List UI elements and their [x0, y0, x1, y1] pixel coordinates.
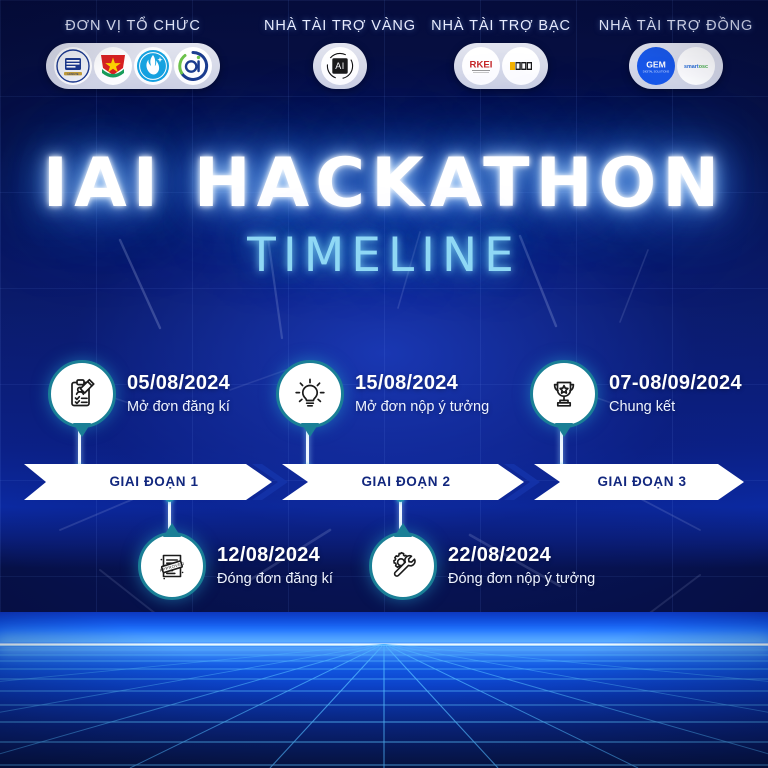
milestone-top-1[interactable]: 05/08/2024 Mở đơn đăng kí: [48, 360, 230, 428]
milestone-top-3[interactable]: 07-08/09/2024 Chung kết: [530, 360, 742, 428]
poster-canvas: ĐƠN VỊ TỔ CHỨC HCMUTE NHÀ TÀI TRỢ VÀNG: [0, 0, 768, 768]
svg-text:smartosc: smartosc: [684, 64, 708, 70]
milestone-marker: [530, 360, 598, 428]
sponsor-logo-pill: RKEI: [454, 43, 548, 89]
sponsor-group-bronze: NHÀ TÀI TRỢ ĐỒNG GEMDIGITAL SOLUTIONS sm…: [586, 18, 766, 89]
sponsor-group-title: NHÀ TÀI TRỢ ĐỒNG: [599, 18, 753, 34]
milestone-marker: [48, 360, 116, 428]
milestone-bottom-1[interactable]: APPROVED 12/08/2024 Đóng đơn đăng kí: [138, 532, 333, 600]
milestone-desc: Mở đơn nộp ý tưởng: [355, 398, 489, 417]
milestone-text: 12/08/2024 Đóng đơn đăng kí: [217, 544, 333, 589]
page-title: IAI HACKATHON: [0, 144, 768, 223]
milestone-date: 22/08/2024: [448, 544, 595, 567]
milestone-marker: [276, 360, 344, 428]
milestone-text: 22/08/2024 Đóng đơn nộp ý tưởng: [448, 544, 595, 589]
sponsor-strip: ĐƠN VỊ TỔ CHỨC HCMUTE NHÀ TÀI TRỢ VÀNG: [0, 18, 768, 89]
sponsor-logo-pill: AI: [313, 43, 367, 89]
rkei-logo: RKEI: [462, 47, 500, 85]
lightbulb-idea-icon: [293, 377, 327, 411]
milestone-desc: Đóng đơn nộp ý tưởng: [448, 570, 595, 589]
sponsor-group-gold: NHÀ TÀI TRỢ VÀNG AI: [264, 18, 416, 89]
ai-club-logo: [174, 47, 212, 85]
milestone-text: 05/08/2024 Mở đơn đăng kí: [127, 372, 230, 417]
sponsor-group-silver: NHÀ TÀI TRỢ BẠC RKEI: [416, 18, 586, 89]
sponsor-logo-pill: GEMDIGITAL SOLUTIONS smartosc: [629, 43, 723, 89]
sponsor-group-title: NHÀ TÀI TRỢ VÀNG: [264, 18, 416, 34]
svg-text:AI: AI: [335, 61, 345, 71]
trophy-icon: [547, 377, 581, 411]
stage-label-3: GIAI ĐOẠN 3: [540, 464, 744, 500]
approved-document-icon: APPROVED: [155, 549, 189, 583]
milestone-date: 15/08/2024: [355, 372, 489, 395]
milestone-marker: APPROVED: [138, 532, 206, 600]
milestone-desc: Đóng đơn đăng kí: [217, 570, 333, 589]
doan-thanh-nien-logo: [94, 47, 132, 85]
stage-arrow-bar: GIAI ĐOẠN 1 GIAI ĐOẠN 2 GIAI ĐOẠN 3: [24, 464, 744, 500]
sponsor-group-organizers: ĐƠN VỊ TỔ CHỨC HCMUTE: [2, 18, 264, 89]
svg-text:HCMUTE: HCMUTE: [67, 72, 78, 76]
sponsor-group-title: NHÀ TÀI TRỢ BẠC: [431, 18, 571, 34]
floor-sky-gradient: [0, 612, 768, 646]
sponsor-logo-pill: HCMUTE: [46, 43, 220, 89]
page-subtitle: TIMELINE: [0, 228, 768, 283]
milestone-date: 07-08/09/2024: [609, 372, 742, 395]
stage-label-1: GIAI ĐOẠN 1: [34, 464, 274, 500]
stage-label-2: GIAI ĐOẠN 2: [286, 464, 526, 500]
svg-text:GEM: GEM: [646, 59, 666, 69]
milestone-top-2[interactable]: 15/08/2024 Mở đơn nộp ý tưởng: [276, 360, 489, 428]
smartosc-logo: smartosc: [677, 47, 715, 85]
milestone-date: 12/08/2024: [217, 544, 333, 567]
registration-form-icon: [65, 377, 99, 411]
gem-logo: GEMDIGITAL SOLUTIONS: [637, 47, 675, 85]
hoi-sinh-vien-logo: [134, 47, 172, 85]
gear-wrench-icon: [386, 549, 420, 583]
milestone-date: 05/08/2024: [127, 372, 230, 395]
milestone-bottom-2[interactable]: 22/08/2024 Đóng đơn nộp ý tưởng: [369, 532, 595, 600]
milestone-desc: Mở đơn đăng kí: [127, 398, 230, 417]
hcmute-emblem-logo: HCMUTE: [54, 47, 92, 85]
floor-grid-lines: [0, 644, 768, 768]
ndl-logo: [502, 47, 540, 85]
sponsor-group-title: ĐƠN VỊ TỔ CHỨC: [65, 18, 200, 34]
perspective-grid-floor: [0, 612, 768, 768]
milestone-desc: Chung kết: [609, 398, 742, 417]
svg-text:RKEI: RKEI: [470, 60, 493, 71]
ai-square-logo: AI: [321, 47, 359, 85]
milestone-marker: [369, 532, 437, 600]
milestone-text: 07-08/09/2024 Chung kết: [609, 372, 742, 417]
milestone-text: 15/08/2024 Mở đơn nộp ý tưởng: [355, 372, 489, 417]
svg-text:DIGITAL SOLUTIONS: DIGITAL SOLUTIONS: [643, 69, 670, 73]
